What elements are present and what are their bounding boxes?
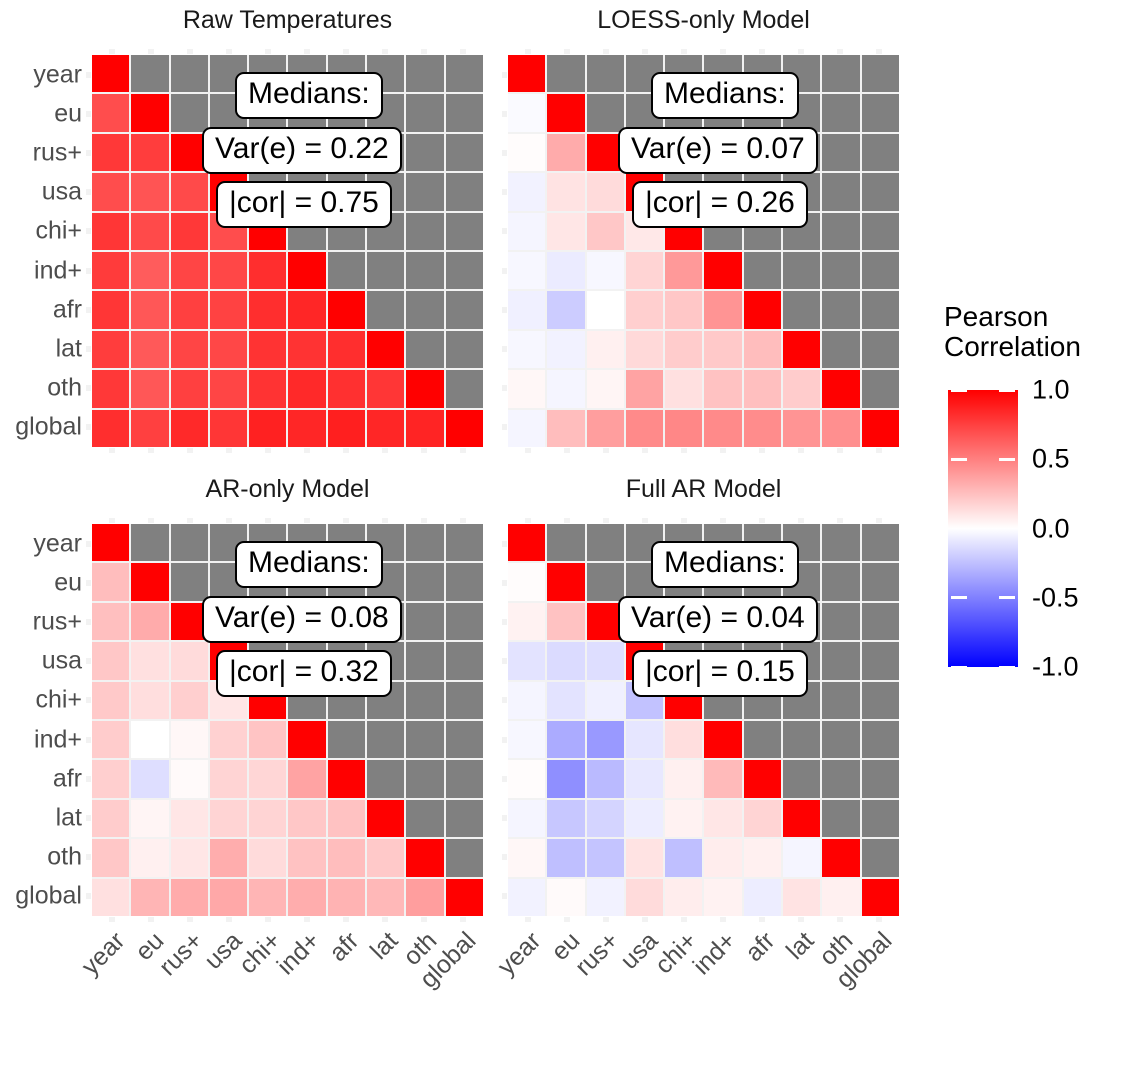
y-tick — [86, 737, 91, 743]
cell-oth-global — [862, 370, 899, 407]
y-axis-label-rus+: rus+ — [33, 610, 82, 635]
cell-eu-ind+ — [704, 563, 741, 600]
y-axis-label-oth: oth — [47, 376, 82, 401]
y-tick — [502, 228, 507, 234]
cell-chi+-chi+ — [249, 682, 286, 719]
cell-chi+-ind+ — [288, 682, 325, 719]
cell-afr-lat — [367, 760, 404, 797]
cell-global-ind+ — [704, 879, 741, 916]
cell-lat-oth — [822, 331, 859, 368]
x-tick-top — [421, 518, 427, 523]
cell-usa-rus+ — [587, 642, 624, 679]
x-tick-top — [382, 49, 388, 54]
cell-global-eu — [131, 410, 168, 447]
y-tick — [86, 228, 91, 234]
cell-year-eu — [547, 55, 584, 92]
x-tick — [382, 917, 388, 922]
cell-eu-usa — [626, 563, 663, 600]
cell-eu-year — [508, 563, 545, 600]
var-e-box-ar: Var(e) = 0.08 — [202, 596, 402, 643]
cell-oth-ind+ — [704, 839, 741, 876]
x-tick — [876, 448, 882, 453]
cell-afr-afr — [744, 291, 781, 328]
x-axis-label-lat: lat — [244, 928, 403, 1087]
y-tick — [502, 72, 507, 78]
cell-afr-chi+ — [249, 760, 286, 797]
cell-chi+-oth — [406, 682, 443, 719]
cell-year-year — [508, 55, 545, 92]
cell-usa-eu — [131, 173, 168, 210]
cell-afr-year — [92, 291, 129, 328]
cell-global-eu — [547, 410, 584, 447]
x-tick — [837, 917, 843, 922]
cell-usa-global — [862, 642, 899, 679]
cell-chi+-rus+ — [171, 682, 208, 719]
x-axis-label-ind+: ind+ — [582, 928, 741, 1087]
cell-rus+-eu — [547, 134, 584, 171]
correlation-grid-loess — [508, 55, 899, 447]
x-axis-label-eu: eu — [425, 928, 584, 1087]
x-axis-label-oth: oth — [699, 928, 858, 1087]
cell-chi+-global — [446, 682, 483, 719]
colorbar-tick — [951, 596, 967, 599]
cell-global-usa — [626, 410, 663, 447]
x-tick — [681, 448, 687, 453]
abs-cor-box-ar: |cor| = 0.32 — [216, 650, 392, 697]
cell-lat-chi+ — [249, 331, 286, 368]
cell-rus+-year — [92, 134, 129, 171]
cell-eu-global — [446, 94, 483, 131]
y-tick — [86, 541, 91, 547]
cell-rus+-lat — [367, 134, 404, 171]
cell-lat-chi+ — [665, 800, 702, 837]
cell-chi+-oth — [822, 682, 859, 719]
cell-lat-usa — [626, 800, 663, 837]
x-tick — [226, 448, 232, 453]
y-axis-label-lat: lat — [56, 806, 82, 831]
cell-year-lat — [783, 524, 820, 561]
cell-afr-afr — [328, 291, 365, 328]
cell-ind+-usa — [210, 252, 247, 289]
x-tick-top — [265, 49, 271, 54]
cell-ind+-rus+ — [171, 252, 208, 289]
cell-global-year — [92, 410, 129, 447]
cell-chi+-global — [446, 213, 483, 250]
cell-usa-global — [446, 642, 483, 679]
y-axis-label-rus+: rus+ — [33, 141, 82, 166]
cell-chi+-eu — [131, 213, 168, 250]
cell-global-chi+ — [249, 879, 286, 916]
cell-global-ind+ — [288, 410, 325, 447]
cell-rus+-usa — [210, 603, 247, 640]
cell-chi+-eu — [547, 682, 584, 719]
cell-global-chi+ — [665, 410, 702, 447]
cell-eu-year — [92, 94, 129, 131]
cell-lat-lat — [367, 331, 404, 368]
x-tick-top — [759, 518, 765, 523]
cell-oth-usa — [626, 839, 663, 876]
correlation-grid-fullar — [508, 524, 899, 916]
cell-afr-rus+ — [171, 760, 208, 797]
cell-ind+-oth — [822, 721, 859, 758]
y-axis-label-chi+: chi+ — [35, 688, 82, 713]
cell-usa-lat — [367, 173, 404, 210]
cell-rus+-afr — [328, 134, 365, 171]
cell-oth-oth — [406, 839, 443, 876]
cell-chi+-oth — [406, 213, 443, 250]
x-tick — [382, 448, 388, 453]
cell-lat-oth — [822, 800, 859, 837]
y-tick — [502, 541, 507, 547]
cell-chi+-afr — [744, 213, 781, 250]
x-axis-label-global: global — [322, 928, 481, 1087]
cell-afr-oth — [406, 760, 443, 797]
y-tick — [502, 268, 507, 274]
cell-lat-chi+ — [249, 800, 286, 837]
cell-eu-eu — [547, 94, 584, 131]
cell-usa-global — [446, 173, 483, 210]
cell-afr-afr — [744, 760, 781, 797]
x-tick-top — [460, 49, 466, 54]
cell-rus+-oth — [822, 134, 859, 171]
cell-oth-global — [446, 370, 483, 407]
y-tick — [502, 150, 507, 156]
cell-usa-global — [862, 173, 899, 210]
y-tick — [86, 893, 91, 899]
cell-global-usa — [210, 879, 247, 916]
x-tick — [343, 917, 349, 922]
y-axis-label-global: global — [15, 884, 82, 909]
legend: Pearson Correlation 1.00.50.0-0.5-1.0 — [940, 300, 1125, 700]
x-tick-top — [343, 49, 349, 54]
cell-oth-eu — [547, 370, 584, 407]
cell-ind+-year — [508, 721, 545, 758]
y-axis-label-global: global — [15, 415, 82, 440]
cell-year-global — [446, 55, 483, 92]
x-tick — [603, 917, 609, 922]
cell-rus+-chi+ — [665, 134, 702, 171]
x-axis-label-year: year — [386, 928, 545, 1087]
y-tick — [86, 346, 91, 352]
x-tick-top — [837, 49, 843, 54]
y-tick — [86, 697, 91, 703]
cell-eu-global — [862, 94, 899, 131]
cell-ind+-global — [862, 721, 899, 758]
y-tick — [502, 307, 507, 313]
y-axis-label-usa: usa — [42, 180, 82, 205]
cell-lat-usa — [626, 331, 663, 368]
y-tick — [86, 658, 91, 664]
y-tick — [86, 268, 91, 274]
cell-oth-eu — [547, 839, 584, 876]
x-tick-top — [187, 49, 193, 54]
cell-lat-usa — [210, 800, 247, 837]
y-tick — [502, 815, 507, 821]
cell-chi+-usa — [626, 682, 663, 719]
cell-usa-eu — [547, 642, 584, 679]
cell-oth-usa — [626, 370, 663, 407]
cell-ind+-ind+ — [704, 252, 741, 289]
cell-usa-usa — [626, 642, 663, 679]
x-tick — [226, 917, 232, 922]
cell-rus+-eu — [131, 603, 168, 640]
medians-label-box-fullar: Medians: — [651, 541, 799, 588]
cell-usa-ind+ — [704, 642, 741, 679]
x-tick — [798, 448, 804, 453]
cell-afr-global — [862, 760, 899, 797]
cell-ind+-chi+ — [249, 252, 286, 289]
cell-global-rus+ — [587, 879, 624, 916]
cell-rus+-ind+ — [704, 603, 741, 640]
cell-rus+-eu — [131, 134, 168, 171]
cell-rus+-ind+ — [288, 134, 325, 171]
x-tick — [642, 917, 648, 922]
cell-lat-rus+ — [171, 331, 208, 368]
cell-ind+-afr — [744, 721, 781, 758]
cell-eu-usa — [626, 94, 663, 131]
x-axis-label-chi+: chi+ — [543, 928, 702, 1087]
x-tick — [460, 448, 466, 453]
cell-ind+-global — [446, 721, 483, 758]
y-tick — [502, 189, 507, 195]
cell-chi+-year — [92, 213, 129, 250]
y-tick — [86, 854, 91, 860]
cell-global-ind+ — [288, 879, 325, 916]
colorbar-tick — [951, 389, 967, 392]
colorbar-label-1: 0.5 — [1032, 446, 1070, 473]
cell-global-afr — [744, 879, 781, 916]
cell-ind+-usa — [626, 721, 663, 758]
x-axis-label-afr: afr — [205, 928, 364, 1087]
x-axis-label-eu: eu — [9, 928, 168, 1087]
cell-global-rus+ — [587, 410, 624, 447]
cell-afr-chi+ — [665, 760, 702, 797]
cell-afr-eu — [131, 291, 168, 328]
x-axis-label-rus+: rus+ — [464, 928, 623, 1087]
cell-year-year — [92, 524, 129, 561]
y-tick — [86, 776, 91, 782]
cell-lat-eu — [547, 331, 584, 368]
cell-ind+-eu — [131, 252, 168, 289]
y-tick — [502, 385, 507, 391]
cell-oth-chi+ — [249, 370, 286, 407]
cell-eu-oth — [822, 94, 859, 131]
x-tick-top — [382, 518, 388, 523]
x-tick-top — [148, 518, 154, 523]
cell-ind+-ind+ — [288, 721, 325, 758]
y-tick — [86, 580, 91, 586]
cell-afr-year — [92, 760, 129, 797]
cell-chi+-lat — [367, 213, 404, 250]
cell-oth-lat — [783, 839, 820, 876]
cell-afr-usa — [210, 760, 247, 797]
cell-afr-afr — [328, 760, 365, 797]
medians-label-box-loess: Medians: — [651, 72, 799, 119]
cell-global-global — [862, 879, 899, 916]
cell-afr-ind+ — [704, 760, 741, 797]
x-tick-top — [681, 49, 687, 54]
cell-usa-usa — [626, 173, 663, 210]
x-tick-top — [226, 49, 232, 54]
x-tick — [148, 917, 154, 922]
x-tick-top — [798, 49, 804, 54]
y-tick — [86, 619, 91, 625]
y-axis-label-usa: usa — [42, 649, 82, 674]
y-tick — [502, 737, 507, 743]
cell-usa-ind+ — [288, 173, 325, 210]
cell-ind+-afr — [744, 252, 781, 289]
colorbar-label-3: -0.5 — [1032, 584, 1079, 611]
cell-afr-eu — [547, 760, 584, 797]
cell-eu-eu — [547, 563, 584, 600]
cell-global-global — [446, 410, 483, 447]
cell-usa-afr — [744, 642, 781, 679]
cell-year-rus+ — [171, 524, 208, 561]
cell-eu-ind+ — [288, 94, 325, 131]
panel-title-ar: AR-only Model — [92, 477, 483, 502]
cell-rus+-eu — [547, 603, 584, 640]
x-tick — [265, 448, 271, 453]
cell-year-lat — [783, 55, 820, 92]
cell-year-ind+ — [704, 524, 741, 561]
x-tick — [421, 448, 427, 453]
cell-year-year — [92, 55, 129, 92]
cell-ind+-lat — [367, 721, 404, 758]
cell-lat-afr — [328, 331, 365, 368]
cell-year-oth — [406, 524, 443, 561]
cell-lat-chi+ — [665, 331, 702, 368]
cell-afr-chi+ — [665, 291, 702, 328]
cell-usa-oth — [822, 173, 859, 210]
y-axis-label-year: year — [33, 62, 82, 87]
cell-afr-global — [862, 291, 899, 328]
cell-lat-rus+ — [587, 800, 624, 837]
cell-rus+-chi+ — [249, 134, 286, 171]
cell-rus+-usa — [626, 603, 663, 640]
cell-oth-usa — [210, 839, 247, 876]
cell-lat-lat — [367, 800, 404, 837]
cell-chi+-usa — [626, 213, 663, 250]
y-tick — [502, 580, 507, 586]
colorbar-tick — [951, 666, 967, 669]
var-e-box-loess: Var(e) = 0.07 — [618, 127, 818, 174]
y-axis-label-year: year — [33, 531, 82, 556]
cell-ind+-afr — [328, 252, 365, 289]
cell-global-lat — [783, 410, 820, 447]
y-axis-label-eu: eu — [54, 570, 82, 595]
cell-oth-afr — [328, 370, 365, 407]
cell-lat-afr — [744, 800, 781, 837]
cell-ind+-rus+ — [171, 721, 208, 758]
cell-usa-chi+ — [249, 173, 286, 210]
cell-lat-ind+ — [704, 331, 741, 368]
cell-year-eu — [131, 55, 168, 92]
y-tick — [86, 150, 91, 156]
cell-global-rus+ — [171, 879, 208, 916]
cell-chi+-ind+ — [704, 213, 741, 250]
cell-usa-oth — [406, 642, 443, 679]
cell-rus+-rus+ — [171, 603, 208, 640]
cell-year-oth — [406, 55, 443, 92]
cell-year-lat — [367, 55, 404, 92]
cell-eu-ind+ — [704, 94, 741, 131]
x-tick-top — [343, 518, 349, 523]
x-tick-top — [109, 518, 115, 523]
cell-oth-oth — [822, 839, 859, 876]
cell-oth-afr — [328, 839, 365, 876]
x-tick — [759, 448, 765, 453]
cell-global-usa — [626, 879, 663, 916]
x-tick — [421, 917, 427, 922]
y-tick — [86, 189, 91, 195]
cell-oth-global — [862, 839, 899, 876]
cell-afr-rus+ — [587, 760, 624, 797]
cell-usa-afr — [744, 173, 781, 210]
cell-eu-chi+ — [665, 563, 702, 600]
cell-rus+-rus+ — [587, 134, 624, 171]
cell-usa-year — [92, 642, 129, 679]
cell-oth-rus+ — [587, 839, 624, 876]
cell-rus+-ind+ — [704, 134, 741, 171]
medians-label-box-raw: Medians: — [235, 72, 383, 119]
cell-eu-chi+ — [249, 563, 286, 600]
cell-usa-year — [508, 173, 545, 210]
cell-afr-lat — [783, 760, 820, 797]
x-tick-top — [525, 49, 531, 54]
cell-global-afr — [744, 410, 781, 447]
cell-afr-rus+ — [587, 291, 624, 328]
x-tick — [187, 448, 193, 453]
colorbar-tick — [999, 596, 1015, 599]
x-tick-top — [876, 49, 882, 54]
cell-year-eu — [131, 524, 168, 561]
cell-year-rus+ — [587, 55, 624, 92]
x-tick — [837, 448, 843, 453]
cell-eu-chi+ — [249, 94, 286, 131]
correlation-grid-raw — [92, 55, 483, 447]
y-tick — [86, 111, 91, 117]
cell-eu-rus+ — [587, 563, 624, 600]
cell-usa-rus+ — [587, 173, 624, 210]
cell-lat-rus+ — [171, 800, 208, 837]
cell-ind+-lat — [783, 252, 820, 289]
cell-lat-oth — [406, 800, 443, 837]
y-axis-label-ind+: ind+ — [34, 727, 82, 752]
cell-usa-chi+ — [665, 642, 702, 679]
cell-eu-eu — [131, 94, 168, 131]
cell-global-year — [92, 879, 129, 916]
cell-lat-eu — [131, 800, 168, 837]
cell-eu-lat — [783, 563, 820, 600]
cell-lat-oth — [406, 331, 443, 368]
x-tick — [720, 448, 726, 453]
cell-eu-rus+ — [171, 94, 208, 131]
x-tick — [304, 448, 310, 453]
cell-ind+-lat — [783, 721, 820, 758]
y-tick — [502, 346, 507, 352]
x-tick — [460, 917, 466, 922]
colorbar-tick — [999, 458, 1015, 461]
x-tick — [525, 448, 531, 453]
y-tick — [502, 619, 507, 625]
cell-rus+-ind+ — [288, 603, 325, 640]
x-tick-top — [460, 518, 466, 523]
cell-chi+-rus+ — [587, 213, 624, 250]
cell-year-ind+ — [288, 524, 325, 561]
x-tick-top — [603, 49, 609, 54]
cell-lat-usa — [210, 331, 247, 368]
cell-usa-afr — [328, 173, 365, 210]
